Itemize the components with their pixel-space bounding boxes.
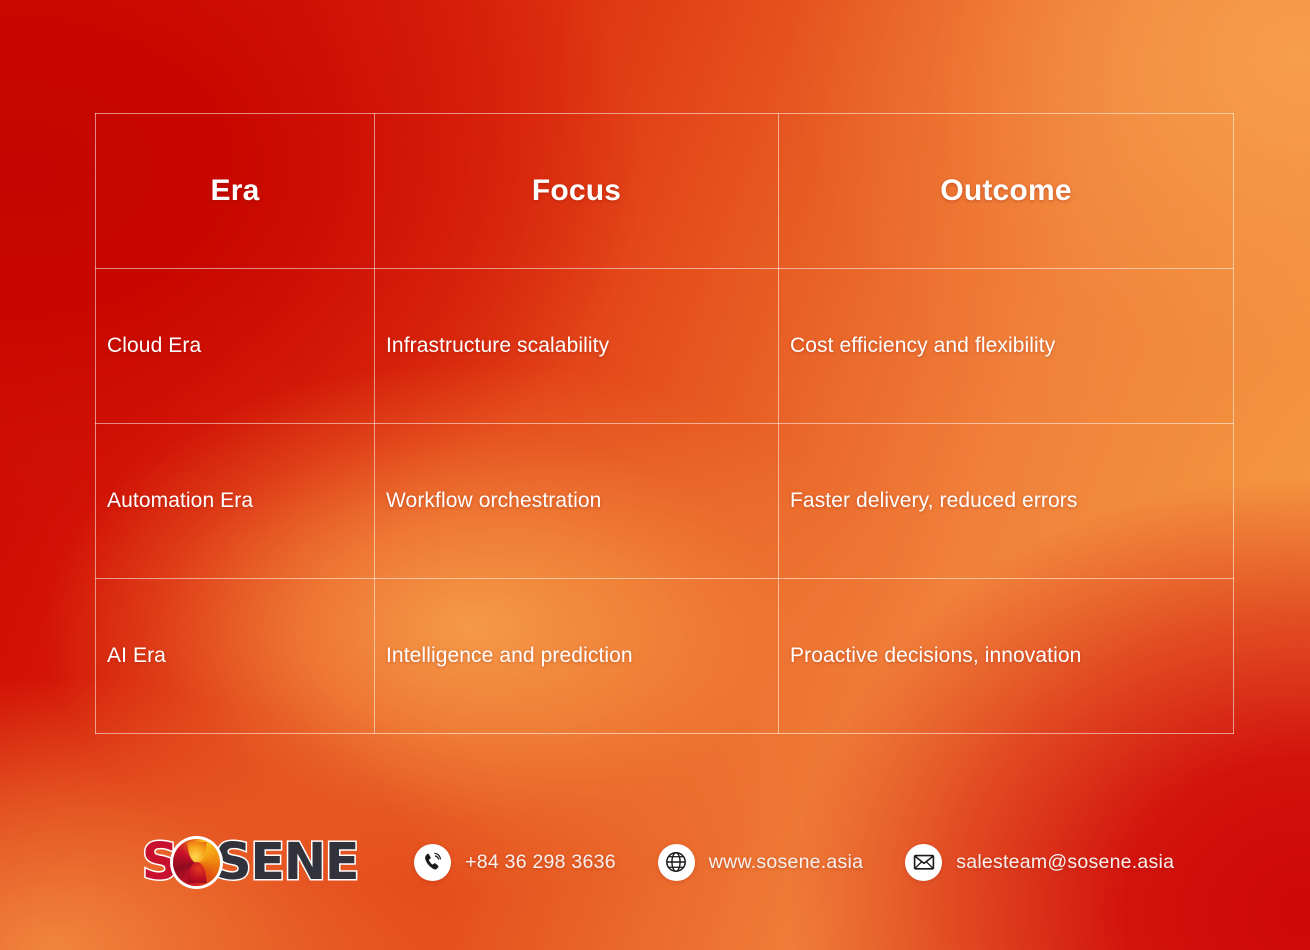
- column-header-focus: Focus: [375, 114, 779, 269]
- column-header-era: Era: [96, 114, 375, 269]
- swirl-o-icon: [173, 839, 220, 886]
- cell-focus: Workflow orchestration: [375, 424, 779, 579]
- cell-outcome: Proactive decisions, innovation: [779, 579, 1234, 734]
- table-header-row: Era Focus Outcome: [96, 114, 1234, 269]
- cell-outcome: Cost efficiency and flexibility: [779, 269, 1234, 424]
- website-url-text: www.sosene.asia: [709, 851, 863, 874]
- logo-letter-s: S: [142, 837, 177, 888]
- cell-era: Cloud Era: [96, 269, 375, 424]
- contact-website[interactable]: www.sosene.asia: [658, 844, 863, 881]
- brand-logo: S SENE: [142, 837, 358, 888]
- column-header-outcome: Outcome: [779, 114, 1234, 269]
- logo-word-sene: SENE: [215, 837, 358, 888]
- email-icon: [905, 844, 942, 881]
- phone-number-text: +84 36 298 3636: [465, 851, 616, 874]
- comparison-table: Era Focus Outcome Cloud Era Infrastructu…: [95, 113, 1234, 734]
- cell-focus: Intelligence and prediction: [375, 579, 779, 734]
- cell-focus: Infrastructure scalability: [375, 269, 779, 424]
- table-header: Era Focus Outcome: [96, 114, 1234, 269]
- footer-bar: S SENE +84 36 298 3636 www.sosene.asia: [0, 822, 1310, 902]
- table-body: Cloud Era Infrastructure scalability Cos…: [96, 269, 1234, 734]
- globe-icon: [658, 844, 695, 881]
- phone-icon: [414, 844, 451, 881]
- table-row: Automation Era Workflow orchestration Fa…: [96, 424, 1234, 579]
- contact-phone[interactable]: +84 36 298 3636: [414, 844, 616, 881]
- table-row: Cloud Era Infrastructure scalability Cos…: [96, 269, 1234, 424]
- table-row: AI Era Intelligence and prediction Proac…: [96, 579, 1234, 734]
- contact-email[interactable]: salesteam@sosene.asia: [905, 844, 1174, 881]
- cell-outcome: Faster delivery, reduced errors: [779, 424, 1234, 579]
- email-address-text: salesteam@sosene.asia: [956, 851, 1174, 874]
- cell-era: Automation Era: [96, 424, 375, 579]
- cell-era: AI Era: [96, 579, 375, 734]
